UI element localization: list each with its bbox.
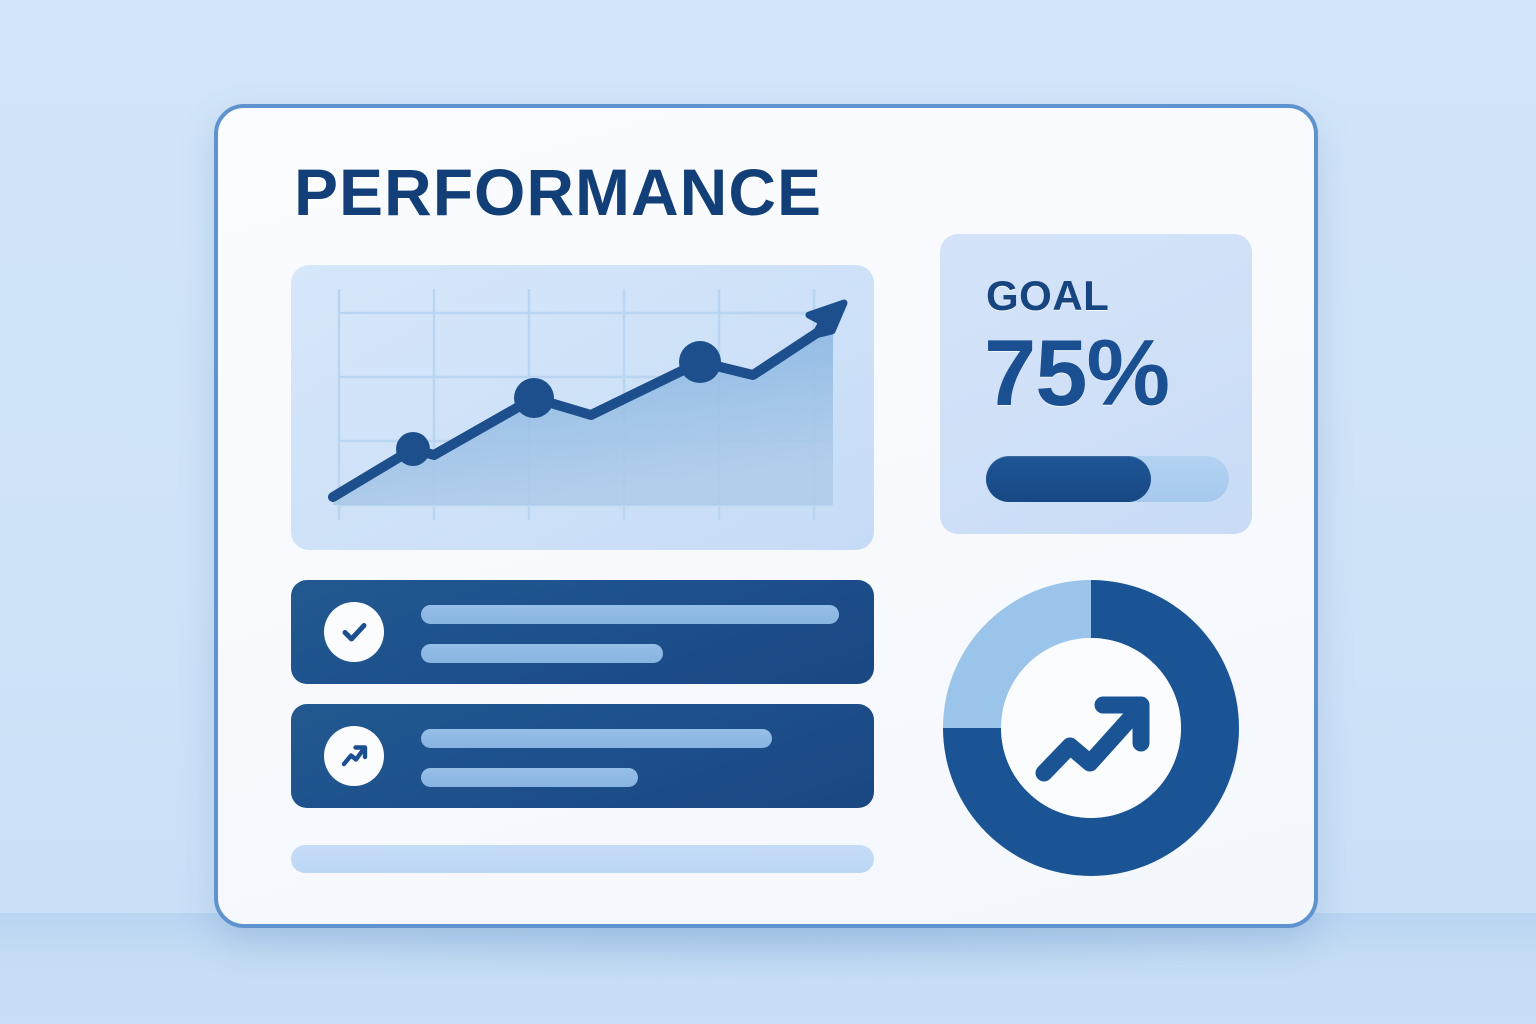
placeholder-bar [421, 768, 638, 787]
background-band [0, 913, 1536, 1024]
line-chart-svg [291, 265, 874, 550]
donut-center-hole [1001, 638, 1181, 818]
page-title: PERFORMANCE [294, 154, 822, 230]
line-chart-panel[interactable] [291, 265, 874, 550]
goal-progress-track[interactable] [986, 456, 1229, 502]
placeholder-bar [421, 729, 772, 748]
donut-chart-svg [931, 568, 1251, 888]
check-circle-icon [324, 602, 384, 662]
chart-data-point [396, 432, 430, 466]
list-item-text-placeholders [421, 729, 839, 787]
chart-data-point [514, 378, 554, 418]
bottom-placeholder-bar [291, 845, 874, 873]
list-item[interactable] [291, 704, 874, 808]
page-root: PERFORMANCE [0, 0, 1536, 1024]
list-item[interactable] [291, 580, 874, 684]
performance-dashboard-card: PERFORMANCE [214, 104, 1318, 928]
trending-up-arrow-icon [337, 739, 371, 773]
placeholder-bar [421, 644, 663, 663]
goal-value: 75% [984, 326, 1169, 420]
goal-card[interactable]: GOAL 75% [940, 234, 1252, 534]
goal-label: GOAL [986, 272, 1109, 320]
chart-data-point [679, 341, 721, 383]
placeholder-bar [421, 605, 839, 624]
trending-up-icon [324, 726, 384, 786]
goal-progress-fill [986, 456, 1151, 502]
list-item-text-placeholders [421, 605, 839, 663]
check-icon [337, 615, 371, 649]
donut-chart[interactable] [931, 568, 1251, 888]
